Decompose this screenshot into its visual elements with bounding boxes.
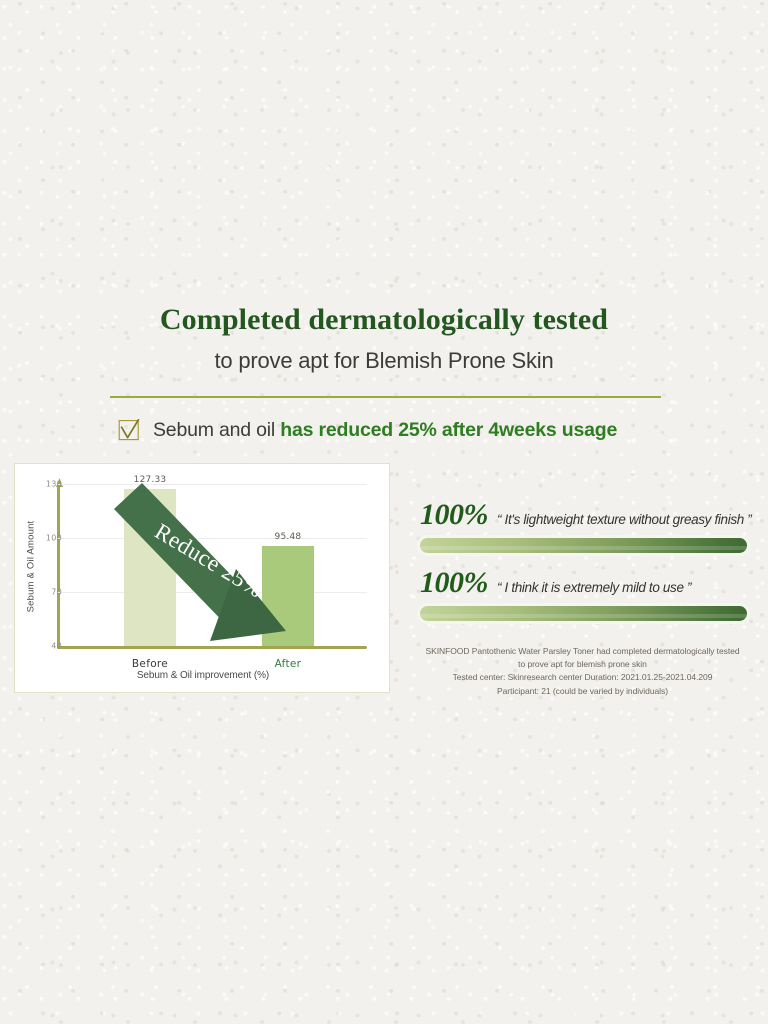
satisfaction-stat-2: 100% “ I think it is extremely mild to u… bbox=[420, 566, 747, 621]
satisfaction-stat-2-percent: 100% bbox=[420, 566, 488, 600]
chart-bar-value-label: 127.33 bbox=[134, 475, 167, 485]
satisfaction-stat-1-bar bbox=[420, 538, 747, 553]
chart-bar bbox=[124, 489, 176, 646]
study-disclaimer-line-3: Tested center: Skinresearch center Durat… bbox=[405, 671, 760, 684]
chart-y-tick-label: 40 bbox=[22, 642, 62, 651]
study-disclaimer: SKINFOOD Pantothenic Water Parsley Toner… bbox=[405, 645, 760, 698]
chart-y-tick-label: 70 bbox=[22, 588, 62, 597]
chart-y-axis-label: Sebum & Oil Amount bbox=[23, 484, 39, 649]
satisfaction-stat-2-bar bbox=[420, 606, 747, 621]
study-disclaimer-line-2: to prove apt for blemish prone skin bbox=[405, 658, 760, 671]
chart-x-axis-caption: Sebum & Oil improvement (%) bbox=[15, 670, 391, 681]
chart-category-label: After bbox=[275, 658, 302, 670]
chart-y-axis bbox=[57, 484, 60, 649]
claim-text: Sebum and oil has reduced 25% after 4wee… bbox=[153, 419, 617, 442]
claim-text-emphasis: has reduced 25% after 4weeks usage bbox=[280, 419, 617, 441]
chart-bar bbox=[262, 546, 314, 646]
satisfaction-stat-1: 100% “ It's lightweight texture without … bbox=[420, 498, 751, 553]
chart-gridline bbox=[57, 592, 367, 593]
page-title: Completed dermatologically tested bbox=[0, 303, 768, 337]
chart-bar-value-label: 95.48 bbox=[275, 532, 302, 542]
chart-category-label: Before bbox=[132, 658, 168, 670]
satisfaction-stat-1-percent: 100% bbox=[420, 498, 488, 532]
satisfaction-stat-2-quote: “ I think it is extremely mild to use ” bbox=[497, 580, 691, 595]
satisfaction-stat-2-head: 100% “ I think it is extremely mild to u… bbox=[420, 566, 747, 600]
chart-gridline bbox=[57, 484, 367, 485]
satisfaction-stat-1-head: 100% “ It's lightweight texture without … bbox=[420, 498, 751, 532]
page-subtitle: to prove apt for Blemish Prone Skin bbox=[0, 348, 768, 374]
chart-y-tick-label: 130 bbox=[22, 480, 62, 489]
study-disclaimer-line-4: Participant: 21 (could be varied by indi… bbox=[405, 685, 760, 698]
chart-y-tick-label: 100 bbox=[22, 534, 62, 543]
claim-line: Sebum and oil has reduced 25% after 4wee… bbox=[118, 414, 658, 446]
chart-gridline bbox=[57, 538, 367, 539]
chart-x-axis bbox=[57, 646, 367, 649]
satisfaction-stat-1-quote: “ It's lightweight texture without greas… bbox=[497, 512, 751, 527]
infographic-stage: Completed dermatologically tested to pro… bbox=[0, 0, 768, 1024]
study-disclaimer-line-1: SKINFOOD Pantothenic Water Parsley Toner… bbox=[405, 645, 760, 658]
chart-plot-area: 1301007040127.33Before95.48After bbox=[57, 484, 367, 649]
section-divider bbox=[110, 396, 661, 398]
claim-text-plain: Sebum and oil bbox=[153, 419, 280, 441]
sebum-chart-card: Sebum & Oil Amount 1301007040127.33Befor… bbox=[14, 463, 390, 693]
checkmark-box-icon bbox=[118, 419, 140, 441]
